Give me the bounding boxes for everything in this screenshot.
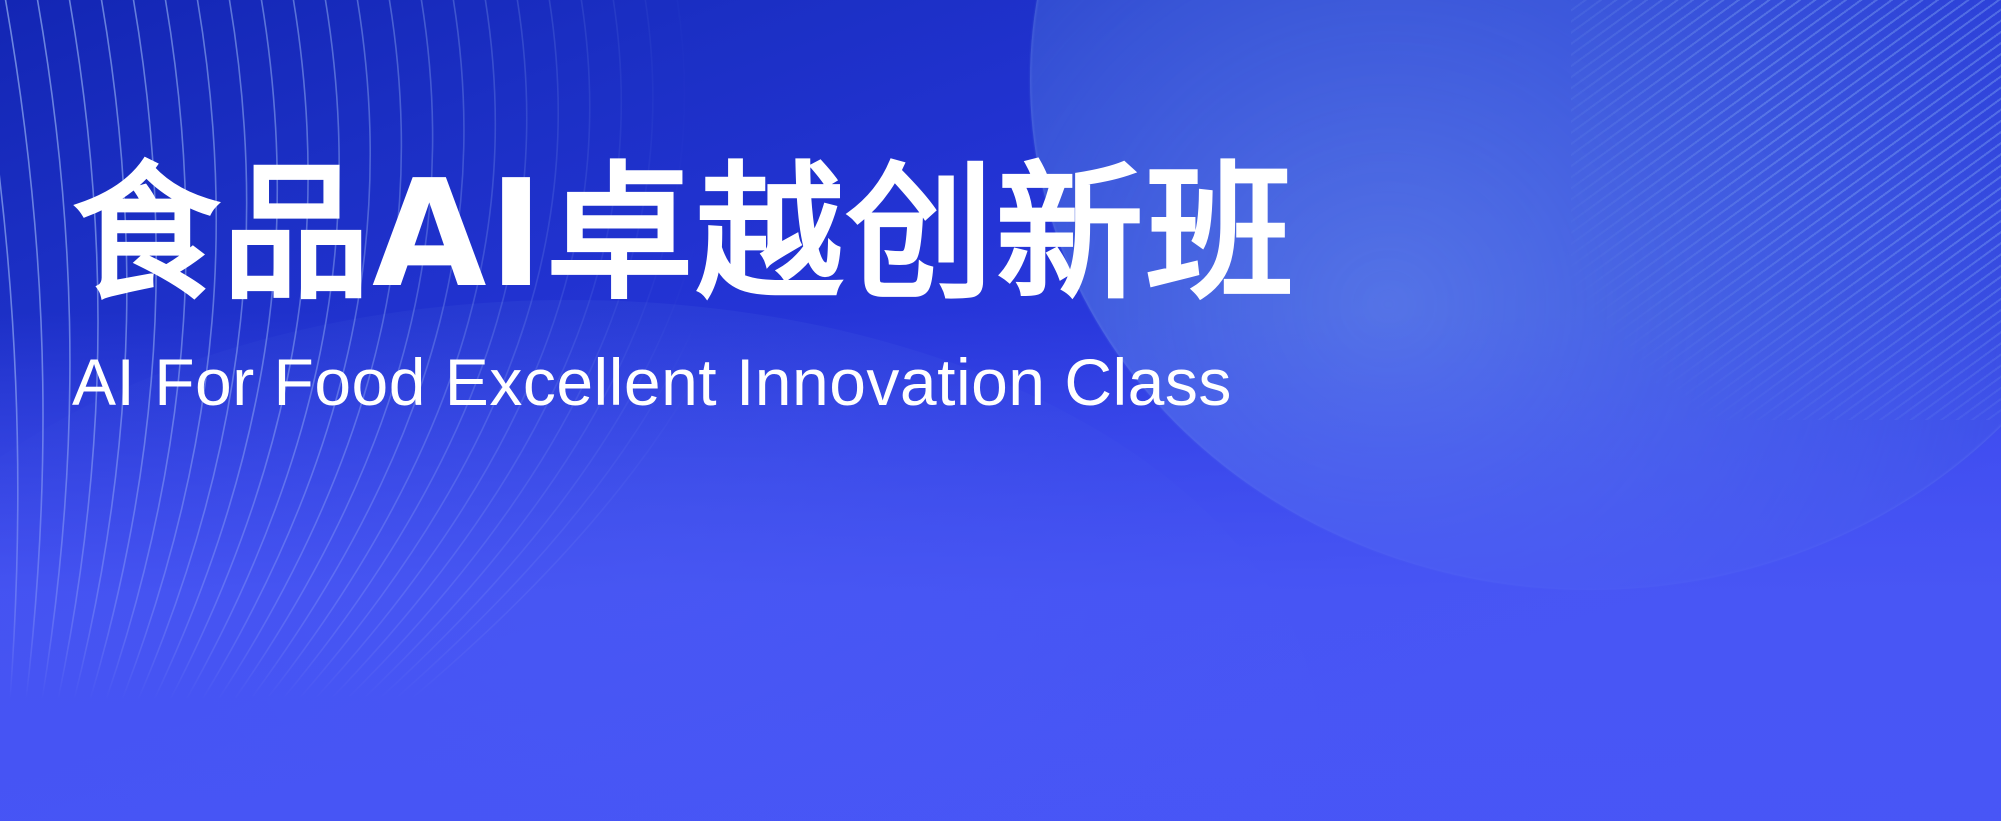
page-subtitle: AI For Food Excellent Innovation Class: [72, 348, 1296, 417]
promo-banner: 食品AI卓越创新班 AI For Food Excellent Innovati…: [0, 0, 2001, 821]
page-title: 食品AI卓越创新班: [72, 160, 1296, 308]
banner-text-block: 食品AI卓越创新班 AI For Food Excellent Innovati…: [72, 160, 1296, 417]
